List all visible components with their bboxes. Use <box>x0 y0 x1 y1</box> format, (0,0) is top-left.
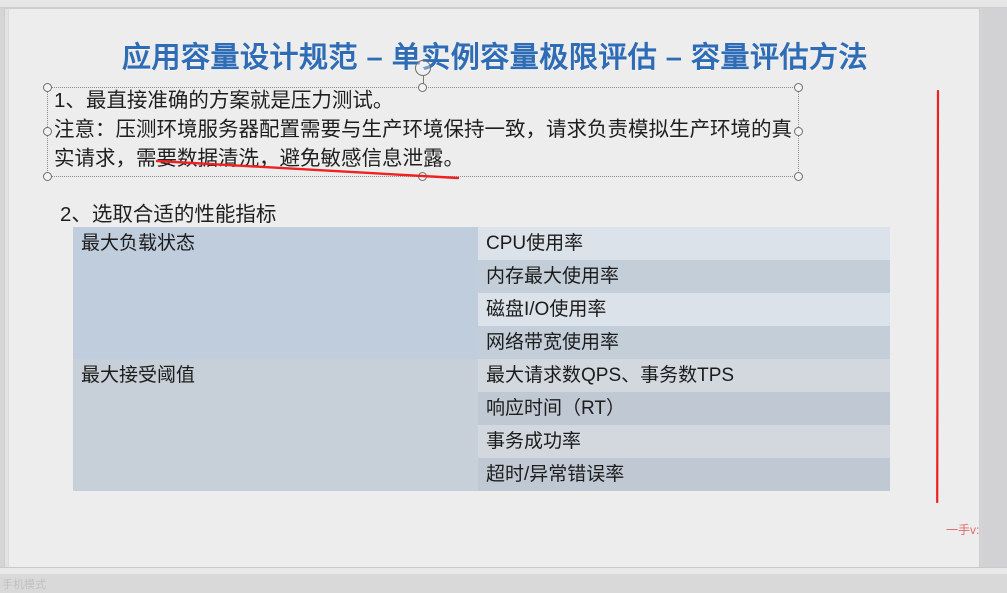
table-cell-metric: 最大请求数QPS、事务数TPS <box>478 359 890 392</box>
rotate-handle-icon[interactable] <box>415 60 431 76</box>
resize-handle-middle-right[interactable] <box>794 127 803 136</box>
window-bottom-bar <box>0 567 1007 593</box>
table-cell-group-label: 最大接受阈值 <box>73 359 478 491</box>
window-top-strip <box>0 0 1007 8</box>
table-cell-group-label: 最大负载状态 <box>73 227 478 359</box>
slide-title: 应用容量设计规范 – 单实例容量极限评估 – 容量评估方法 <box>55 34 935 76</box>
slide-left-edge <box>5 9 9 573</box>
bottom-bar-highlight <box>0 568 1007 574</box>
table-cell-metric: 网络带宽使用率 <box>478 326 890 359</box>
red-ink-vertical-line <box>935 89 941 504</box>
table-cell-metric: 磁盘I/O使用率 <box>478 293 890 326</box>
table-cell-metric: 响应时间（RT） <box>478 392 890 425</box>
resize-handle-bottom-right[interactable] <box>794 172 803 181</box>
resize-handle-bottom-left[interactable] <box>43 172 52 181</box>
text-box-content: 1、最直接准确的方案就是压力测试。 注意：压测环境服务器配置需要与生产环境保持一… <box>54 86 798 173</box>
bottom-status-text: 手机模式 <box>2 576 46 592</box>
slide-canvas[interactable]: 应用容量设计规范 – 单实例容量极限评估 – 容量评估方法 1、最直接准确的方案… <box>4 8 980 574</box>
table-cell-metric: 事务成功率 <box>478 425 890 458</box>
selected-text-box[interactable]: 1、最直接准确的方案就是压力测试。 注意：压测环境服务器配置需要与生产环境保持一… <box>47 87 799 177</box>
resize-handle-top-left[interactable] <box>43 83 52 92</box>
resize-handle-middle-left[interactable] <box>43 127 52 136</box>
performance-metrics-table[interactable]: 最大负载状态 CPU使用率 内存最大使用率 磁盘I/O使用率 网络带宽使用率 最… <box>73 227 890 491</box>
subheading-2: 2、选取合适的性能指标 <box>60 197 276 227</box>
table-cell-metric: 超时/异常错误率 <box>478 458 890 491</box>
watermark-text: 一手v: q <box>946 521 980 538</box>
table-cell-metric: 内存最大使用率 <box>478 260 890 293</box>
resize-handle-top-right[interactable] <box>794 83 803 92</box>
right-side-panel <box>982 8 1007 574</box>
table-row[interactable]: 最大接受阈值 最大请求数QPS、事务数TPS <box>73 359 890 392</box>
table-cell-metric: CPU使用率 <box>478 227 890 260</box>
resize-handle-bottom-center[interactable] <box>418 172 427 181</box>
text-line-2: 注意：压测环境服务器配置需要与生产环境保持一致，请求负责模拟生产环境的真实请求，… <box>54 115 798 173</box>
presentation-window: 应用容量设计规范 – 单实例容量极限评估 – 容量评估方法 1、最直接准确的方案… <box>0 0 1007 592</box>
text-line-1: 1、最直接准确的方案就是压力测试。 <box>54 86 798 115</box>
resize-handle-top-center[interactable] <box>418 83 427 92</box>
table-row[interactable]: 最大负载状态 CPU使用率 <box>73 227 890 260</box>
